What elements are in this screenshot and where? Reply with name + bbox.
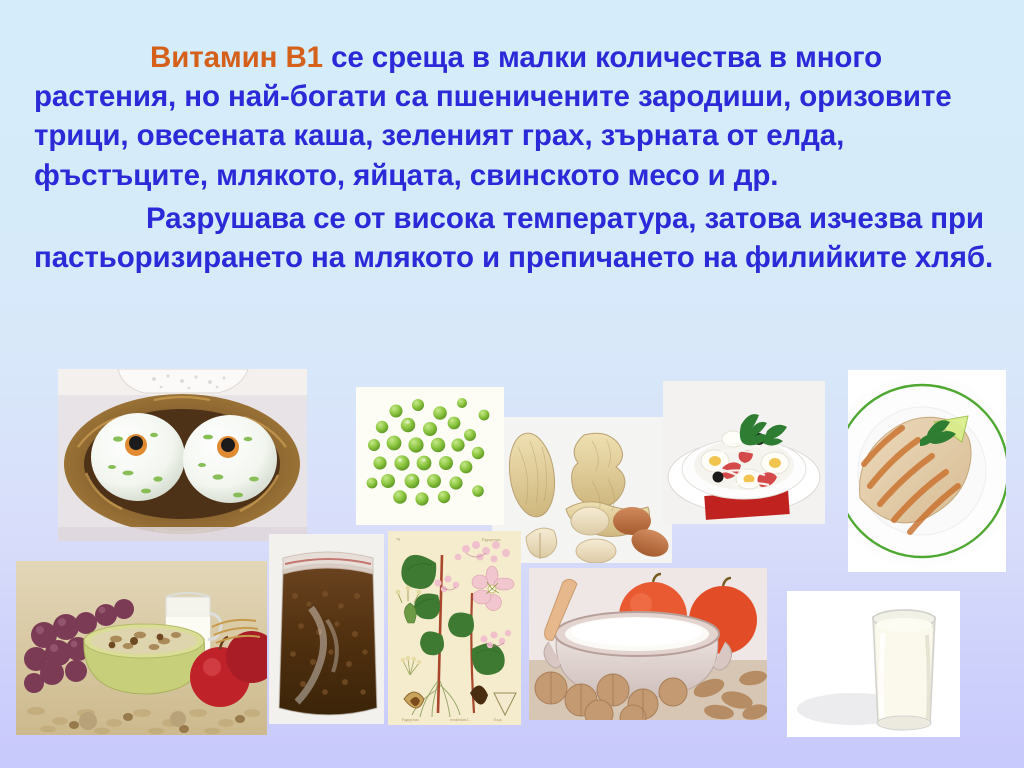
yogurt-bowl-photo (529, 568, 767, 720)
plate-caption-center: esculentum L. (450, 718, 470, 722)
grilled-pork-illustration (848, 370, 1006, 572)
paragraph-sources: Витамин В1 се среща в малки количества в… (34, 38, 1002, 195)
buckwheat-grain-bag-photo (269, 534, 384, 724)
slide-canvas: Витамин В1 се среща в малки количества в… (0, 0, 1024, 768)
rice-dish-photo (58, 369, 307, 541)
plate-corner-mark-left: 79 (396, 537, 400, 542)
plate-caption-right: Елда (494, 718, 502, 722)
egg-ham-salad-photo (663, 381, 825, 524)
grilled-pork-photo (848, 370, 1006, 572)
rice-dish-illustration (58, 369, 307, 541)
egg-ham-salad-illustration (663, 381, 825, 524)
green-peas-illustration (356, 387, 504, 525)
paragraph-heat: Разрушава се от висока температура, зато… (34, 199, 1002, 277)
vitamin-b1-label: Витамин В1 (150, 41, 323, 74)
buckwheat-botanical-illustration: 79 Fagopyrum (388, 531, 521, 725)
buckwheat-bag-illustration (269, 534, 384, 724)
buckwheat-botanical-plate: 79 Fagopyrum (388, 531, 521, 725)
plate-caption-left: Fagopyrum (402, 718, 419, 722)
green-peas-photo (356, 387, 504, 525)
milk-glass-photo (787, 591, 960, 737)
slide-body-text: Витамин В1 се среща в малки количества в… (34, 38, 1002, 281)
paragraph-heat-text: Разрушава се от висока температура, зато… (34, 202, 993, 274)
muesli-illustration (16, 561, 267, 735)
plate-corner-mark-right: Fagopyrum (482, 537, 501, 542)
muesli-breakfast-photo (16, 561, 267, 735)
milk-glass-illustration (787, 591, 960, 737)
yogurt-bowl-illustration (529, 568, 767, 720)
